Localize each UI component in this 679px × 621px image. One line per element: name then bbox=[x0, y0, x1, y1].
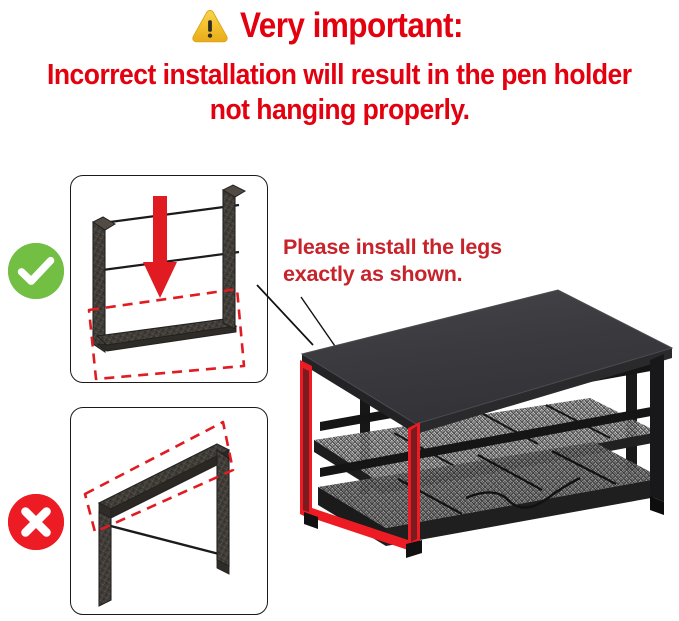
header-warning-line-1: Incorrect installation will result in th… bbox=[0, 59, 679, 92]
header-title-row: Very important: bbox=[0, 6, 679, 49]
monitor-stand-desk-organizer bbox=[290, 272, 679, 567]
header-warning-line-2: not hanging properly. bbox=[0, 94, 679, 127]
incorrect-diagram-drawing bbox=[71, 408, 266, 613]
down-arrow-icon bbox=[143, 196, 177, 298]
check-circle-icon bbox=[8, 243, 64, 299]
correct-installation-diagram bbox=[70, 175, 268, 383]
instruction-line-1: Please install the legs bbox=[283, 234, 583, 261]
correct-diagram-drawing bbox=[71, 176, 266, 381]
header-warning-line-1-text: Incorrect installation will result in th… bbox=[47, 59, 632, 92]
installation-warning-page: Very important: Incorrect installation w… bbox=[0, 0, 679, 621]
status-badge-incorrect bbox=[8, 494, 64, 550]
page-title: Very important: bbox=[240, 6, 463, 46]
status-badge-correct bbox=[8, 243, 64, 299]
header: Very important: Incorrect installation w… bbox=[0, 0, 679, 140]
front-right-leg bbox=[650, 354, 664, 515]
x-circle-icon bbox=[8, 494, 64, 550]
incorrect-installation-diagram bbox=[70, 407, 268, 615]
warning-triangle-icon bbox=[191, 8, 229, 49]
header-warning-line-2-text: not hanging properly. bbox=[210, 94, 470, 127]
